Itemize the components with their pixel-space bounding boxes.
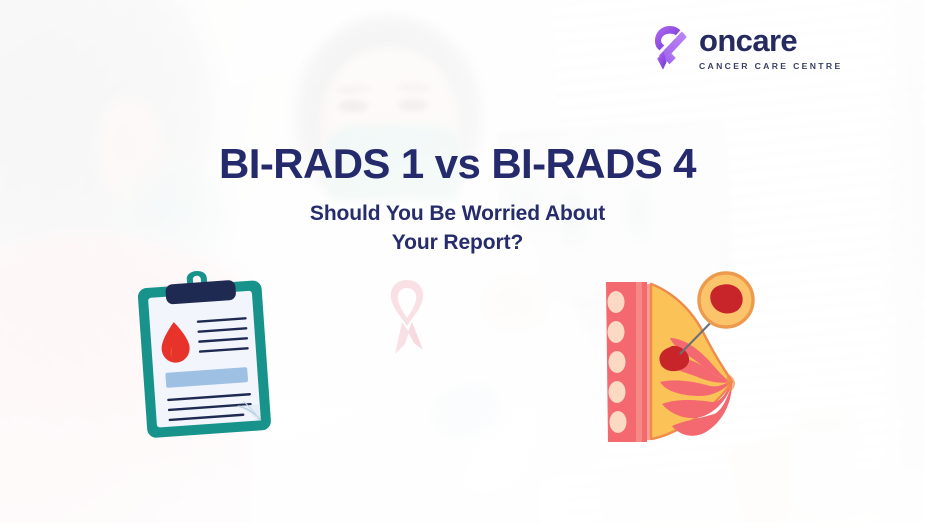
logo-name: oncare	[699, 25, 843, 56]
headline-block: BI-RADS 1 vs BI-RADS 4 Should You Be Wor…	[0, 142, 925, 258]
doctor-hand	[480, 272, 552, 334]
purple-ribbon-icon	[650, 24, 690, 72]
breast-anatomy-illustration	[592, 256, 767, 456]
headline-subtitle-line-2: Your Report?	[0, 229, 925, 258]
oncare-logo[interactable]: oncare CANCER CARE CENTRE	[650, 24, 843, 72]
logo-tagline: CANCER CARE CENTRE	[699, 61, 843, 71]
headline-subtitle: Should You Be Worried About Your Report?	[0, 200, 925, 258]
headline-title: BI-RADS 1 vs BI-RADS 4	[0, 142, 925, 186]
logo-wordmark: oncare CANCER CARE CENTRE	[699, 25, 843, 71]
doctor-eye-left	[338, 100, 368, 112]
medical-report-clipboard-icon	[126, 258, 286, 448]
headline-subtitle-line-1: Should You Be Worried About	[0, 200, 925, 229]
pink-awareness-ribbon-icon	[378, 276, 436, 360]
window-frame-post	[881, 0, 925, 523]
doctor-eye-right	[398, 99, 428, 111]
banner-root: oncare CANCER CARE CENTRE BI-RADS 1 vs B…	[0, 0, 925, 523]
plant-pot	[790, 432, 856, 510]
